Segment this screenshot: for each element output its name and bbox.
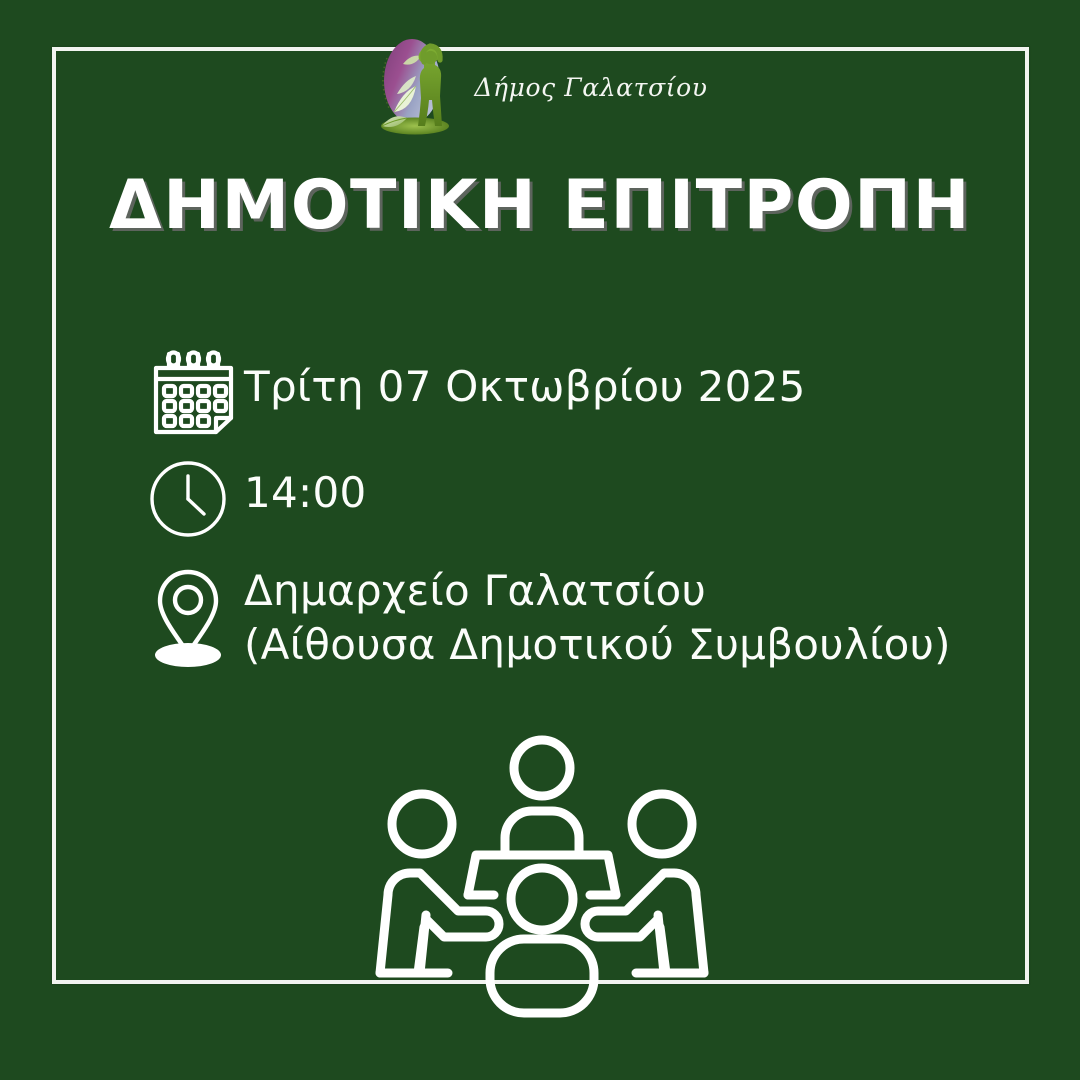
page-title: ΔΗΜΟΤΙΚΗ ΕΠΙΤΡΟΠΗ: [0, 166, 1080, 245]
municipality-name-label: Δήμος Γαλατσίου: [474, 73, 707, 102]
municipality-logo-row: Δήμος Γαλατσίου: [0, 32, 1080, 140]
detail-row-location: Δημαρχείο Γαλατσίου (Αίθουσα Δημοτικού Σ…: [148, 564, 1008, 672]
calendar-icon: [148, 350, 244, 436]
detail-row-time: 14:00: [148, 460, 1008, 540]
location-pin-icon: [148, 564, 244, 672]
event-location-line-2: (Αίθουσα Δημοτικού Συμβουλίου): [244, 618, 951, 672]
poster-canvas: Δήμος Γαλατσίου ΔΗΜΟΤΙΚΗ ΕΠΙΤΡΟΠΗ: [0, 0, 1080, 1080]
event-date-label: Τρίτη 07 Οκτωβρίου 2025: [244, 350, 806, 414]
dimos-galatsiou-emblem: [372, 34, 458, 138]
event-time-label: 14:00: [244, 460, 367, 520]
event-location-block: Δημαρχείο Γαλατσίου (Αίθουσα Δημοτικού Σ…: [244, 564, 951, 672]
meeting-people-around-table-icon: [372, 727, 712, 1017]
event-details-list: Τρίτη 07 Οκτωβρίου 2025 14:00: [148, 350, 1008, 694]
clock-icon: [148, 460, 244, 540]
detail-row-date: Τρίτη 07 Οκτωβρίου 2025: [148, 350, 1008, 436]
event-location-line-1: Δημαρχείο Γαλατσίου: [244, 564, 951, 618]
